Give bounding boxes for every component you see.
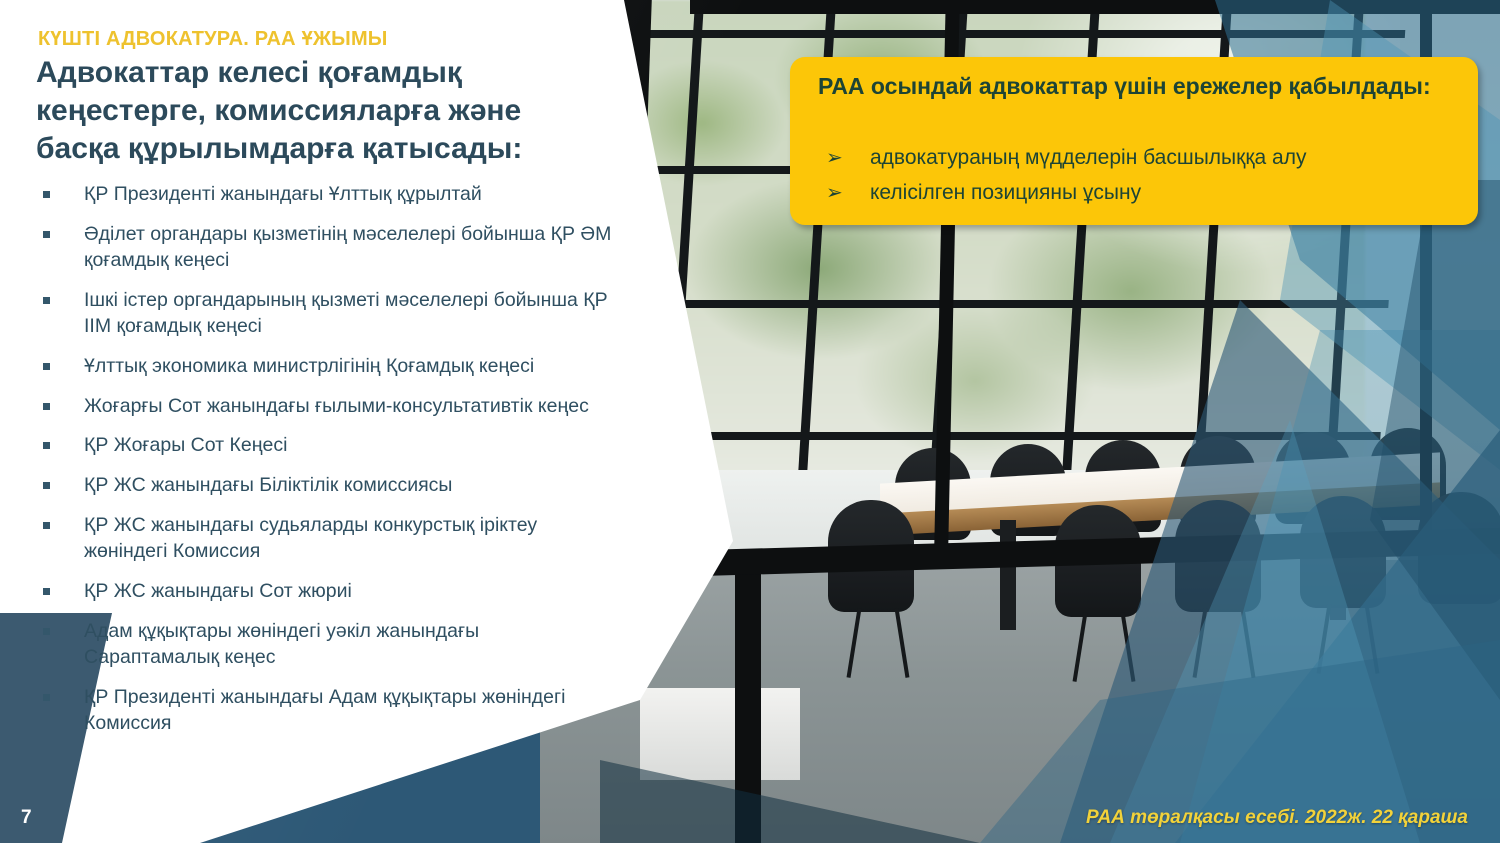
list-item: Жоғарғы Сот жанындағы ғылыми-консультати… <box>36 394 616 420</box>
list-item: Адам құқықтары жөніндегі уәкіл жанындағы… <box>36 619 616 671</box>
square-bullet-icon <box>43 588 50 595</box>
list-item: ҚР ЖС жанындағы Біліктілік комиссиясы <box>36 473 616 499</box>
page-number: 7 <box>21 807 32 829</box>
callout-title: РАА осындай адвокаттар үшін ережелер қаб… <box>818 71 1438 101</box>
participation-list: ҚР Президенті жанындағы Ұлттық құрылтай … <box>36 182 616 751</box>
list-item-label: ҚР ЖС жанындағы Біліктілік комиссиясы <box>84 474 452 496</box>
list-item: ҚР Президенті жанындағы Ұлттық құрылтай <box>36 182 616 208</box>
list-item: ҚР ЖС жанындағы судьяларды конкурстық ір… <box>36 513 616 565</box>
table-leg <box>1000 520 1016 630</box>
glass-wall-beam <box>735 560 761 843</box>
square-bullet-icon <box>43 482 50 489</box>
square-bullet-icon <box>43 694 50 701</box>
list-item: ➢ келісілген позицияны ұсыну <box>818 180 1468 206</box>
square-bullet-icon <box>43 628 50 635</box>
square-bullet-icon <box>43 403 50 410</box>
callout-list: ➢ адвокатураның мүдделерін басшылыққа ал… <box>818 145 1468 216</box>
rules-callout: РАА осындай адвокаттар үшін ережелер қаб… <box>790 57 1478 225</box>
list-item: ҚР Президенті жанындағы Адам құқықтары ж… <box>36 685 616 737</box>
list-item-label: Жоғарғы Сот жанындағы ғылыми-консультати… <box>84 395 589 417</box>
list-item: ҚР Жоғары Сот Кеңесі <box>36 433 616 459</box>
footer-note: РАА төралқасы есебі. 2022ж. 22 қараша <box>1086 807 1468 829</box>
list-item: Әділет органдары қызметінің мәселелері б… <box>36 222 616 274</box>
list-item-label: Ұлттық экономика министрлігінің Қоғамдық… <box>84 355 534 377</box>
square-bullet-icon <box>43 442 50 449</box>
square-bullet-icon <box>43 231 50 238</box>
list-item-label: ҚР ЖС жанындағы судьяларды конкурстық ір… <box>84 514 537 562</box>
list-item-label: Ішкі істер органдарының қызметі мәселеле… <box>84 289 608 337</box>
list-item: ➢ адвокатураның мүдделерін басшылыққа ал… <box>818 145 1468 171</box>
list-item: Ұлттық экономика министрлігінің Қоғамдық… <box>36 354 616 380</box>
list-item-label: ҚР ЖС жанындағы Сот жюриі <box>84 580 352 602</box>
list-item-label: ҚР Президенті жанындағы Ұлттық құрылтай <box>84 183 482 205</box>
list-item: Ішкі істер органдарының қызметі мәселеле… <box>36 288 616 340</box>
arrow-bullet-icon: ➢ <box>826 146 843 171</box>
list-item-label: адвокатураның мүдделерін басшылыққа алу <box>870 146 1306 169</box>
square-bullet-icon <box>43 297 50 304</box>
list-item: ҚР ЖС жанындағы Сот жюриі <box>36 579 616 605</box>
list-item-label: ҚР Президенті жанындағы Адам құқықтары ж… <box>84 686 565 734</box>
square-bullet-icon <box>43 191 50 198</box>
list-item-label: келісілген позицияны ұсыну <box>870 181 1141 204</box>
slide-eyebrow: КҮШТІ АДВОКАТУРА. РАА ҰЖЫМЫ <box>38 28 388 51</box>
page-title: Адвокаттар келесі қоғамдық кеңестерге, к… <box>36 54 566 168</box>
slide: КҮШТІ АДВОКАТУРА. РАА ҰЖЫМЫ Адвокаттар к… <box>0 0 1500 843</box>
square-bullet-icon <box>43 522 50 529</box>
square-bullet-icon <box>43 363 50 370</box>
arrow-bullet-icon: ➢ <box>826 181 843 206</box>
list-item-label: Адам құқықтары жөніндегі уәкіл жанындағы… <box>84 620 479 668</box>
glass-wall-beam <box>690 0 1500 14</box>
list-item-label: ҚР Жоғары Сот Кеңесі <box>84 434 287 456</box>
list-item-label: Әділет органдары қызметінің мәселелері б… <box>84 223 611 271</box>
low-cabinet <box>640 688 800 780</box>
